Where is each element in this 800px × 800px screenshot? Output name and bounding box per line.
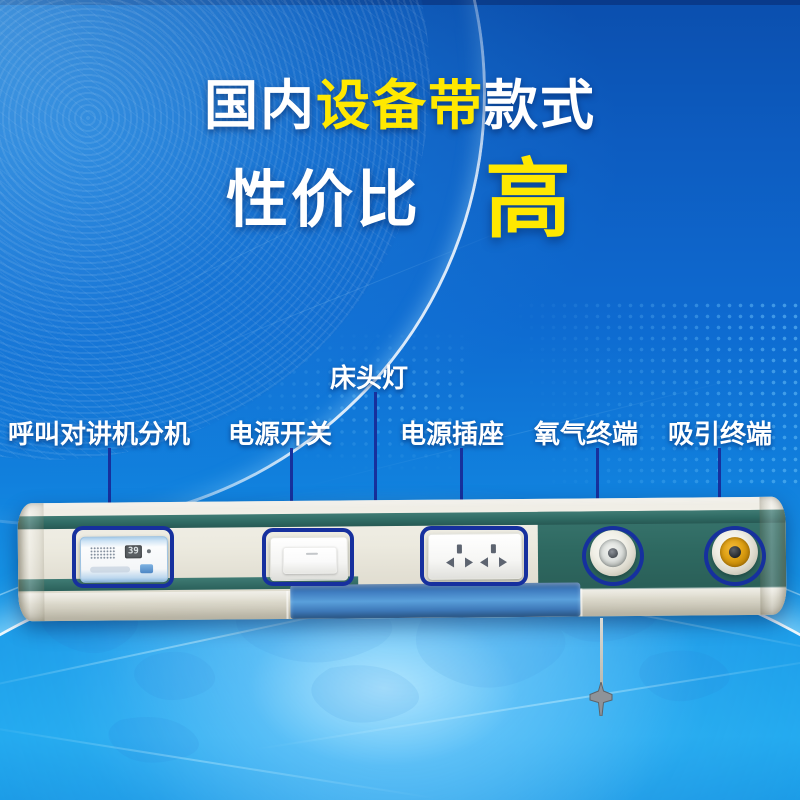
- panel-seam-right: [580, 588, 582, 616]
- headline-value-phrase: 性价比: [226, 169, 421, 231]
- headline-line-1: 国内设备带款式: [0, 78, 800, 135]
- highlight-ring-oxygen: [582, 526, 644, 586]
- highlight-box-socket: [420, 526, 528, 586]
- highlight-box-switch: [262, 528, 354, 586]
- headline-highlight: 设备带: [316, 74, 484, 137]
- bed-lamp-rail[interactable]: [290, 582, 580, 619]
- headline-block: 国内设备带款式 性价比 高: [0, 78, 800, 243]
- halftone-dots-right: [460, 300, 800, 490]
- pull-cord-handle-icon[interactable]: [586, 682, 616, 716]
- headline-suffix: 款式: [484, 74, 596, 137]
- panel-end-cap-left: [17, 503, 44, 621]
- headline-emphasis-word: 高: [485, 157, 574, 243]
- bed-head-panel-wrap: 39: [18, 500, 786, 632]
- callout-label-intercom: 呼叫对讲机分机: [8, 414, 190, 451]
- callout-label-bed-lamp: 床头灯: [330, 358, 408, 395]
- highlight-box-intercom: [72, 526, 174, 588]
- highlight-ring-suction: [704, 526, 766, 586]
- pull-cord-string: [600, 618, 603, 690]
- callout-label-oxygen: 氧气终端: [534, 414, 638, 451]
- headline-line-2: 性价比 高: [0, 157, 800, 243]
- banner-stage: 国内设备带款式 性价比 高 呼叫对讲机分机 电源开关 床头灯 电源插座 氧气终端…: [0, 0, 800, 800]
- callout-label-suction: 吸引终端: [668, 414, 772, 451]
- headline-prefix: 国内: [204, 74, 316, 137]
- callout-label-socket: 电源插座: [400, 414, 504, 451]
- callout-label-switch: 电源开关: [228, 414, 332, 451]
- panel-seam-left: [286, 591, 288, 619]
